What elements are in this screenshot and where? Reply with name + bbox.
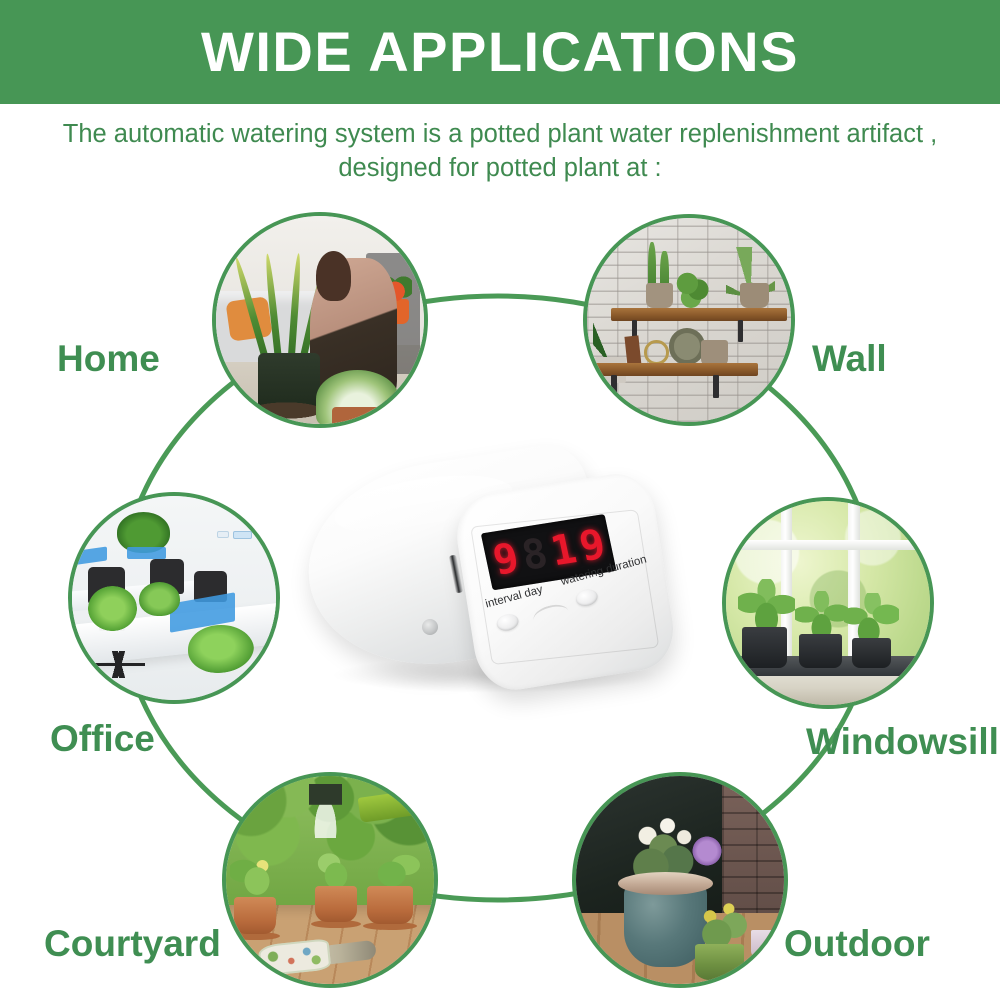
application-circle-windowsill[interactable] [722, 497, 934, 709]
led-digit-3: 1 [547, 528, 579, 572]
scene-windowsill [726, 501, 930, 705]
scene-home [216, 216, 424, 424]
application-circle-wall[interactable] [583, 214, 795, 426]
application-label-office: Office [50, 720, 155, 757]
device-port-icon [422, 619, 438, 635]
product-device: 9 8 1 9 interval day watering duration [300, 445, 700, 735]
scene-courtyard [226, 776, 434, 984]
scene-wall [587, 218, 791, 422]
application-label-home: Home [57, 340, 160, 377]
led-digit-4: 9 [576, 523, 608, 567]
scene-office [72, 496, 276, 700]
application-label-outdoor: Outdoor [784, 925, 930, 962]
page-title: WIDE APPLICATIONS [201, 24, 799, 80]
led-digit-2: 8 [518, 533, 550, 577]
infographic-page: WIDE APPLICATIONS The automatic watering… [0, 0, 1000, 1000]
application-circle-office[interactable] [68, 492, 280, 704]
device-front-face: 9 8 1 9 interval day watering duration [451, 469, 680, 696]
application-label-wall: Wall [812, 340, 887, 377]
application-circle-home[interactable] [212, 212, 428, 428]
header-band: WIDE APPLICATIONS [0, 0, 1000, 104]
application-circle-courtyard[interactable] [222, 772, 438, 988]
application-label-courtyard: Courtyard [44, 925, 221, 962]
application-label-windowsill: Windowsill [806, 723, 999, 760]
led-digit-1: 9 [489, 537, 521, 581]
watering-timer-device: 9 8 1 9 interval day watering duration [300, 445, 700, 735]
scene-outdoor [576, 776, 784, 984]
subtitle-text: The automatic watering system is a potte… [50, 118, 950, 186]
application-circle-outdoor[interactable] [572, 772, 788, 988]
